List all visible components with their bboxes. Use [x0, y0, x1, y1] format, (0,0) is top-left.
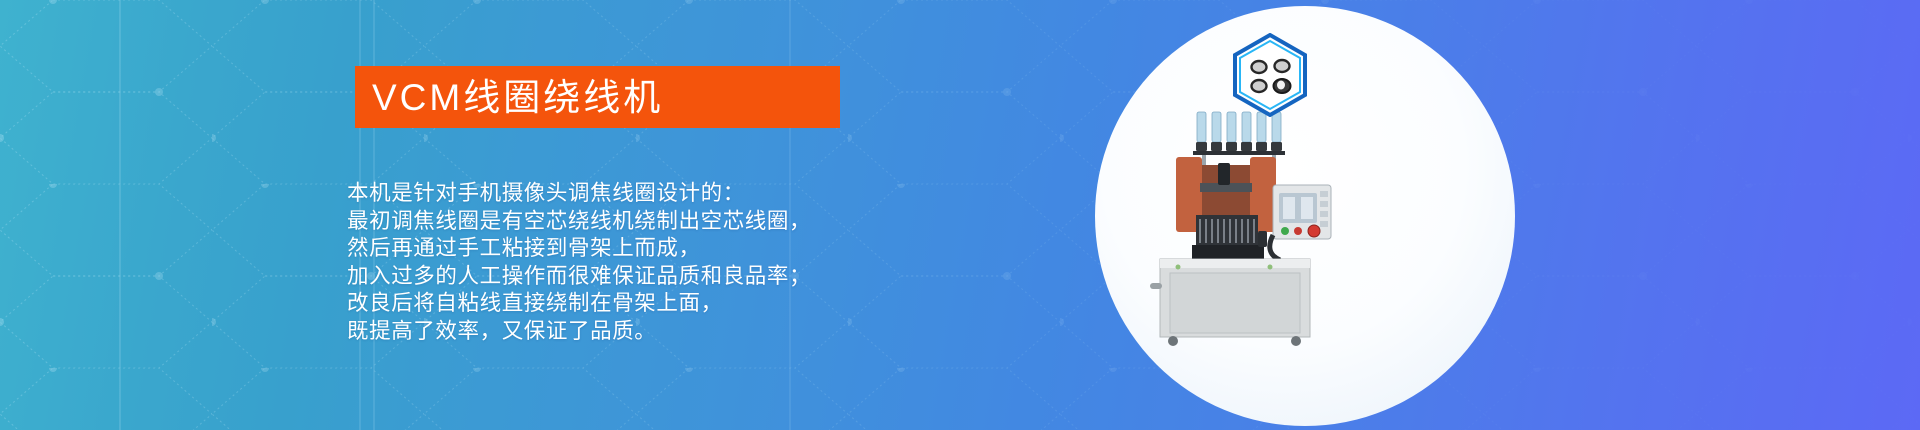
page-title: VCM线圈绕线机: [355, 79, 663, 116]
coil-samples-hex-badge: [1232, 33, 1308, 117]
hexagon-mesh-decoration: [0, 0, 1920, 430]
description-block: 本机是针对手机摄像头调焦线圈设计的： 最初调焦线圈是有空芯绕线机绕制出空芯线圈，…: [347, 180, 947, 345]
banner-title-box: VCM线圈绕线机: [355, 66, 840, 128]
description-line: 本机是针对手机摄像头调焦线圈设计的：: [347, 180, 947, 208]
description-line: 最初调焦线圈是有空芯绕线机绕制出空芯线圈，: [347, 208, 947, 236]
description-line: 加入过多的人工操作而很难保证品质和良品率；: [347, 263, 947, 291]
description-line: 既提高了效率，又保证了品质。: [347, 318, 947, 346]
description-line: 然后再通过手工粘接到骨架上而成，: [347, 235, 947, 263]
description-line: 改良后将自粘线直接绕制在骨架上面，: [347, 290, 947, 318]
machine-photo: [1140, 85, 1345, 350]
promo-banner: VCM线圈绕线机 本机是针对手机摄像头调焦线圈设计的： 最初调焦线圈是有空芯绕线…: [0, 0, 1920, 430]
